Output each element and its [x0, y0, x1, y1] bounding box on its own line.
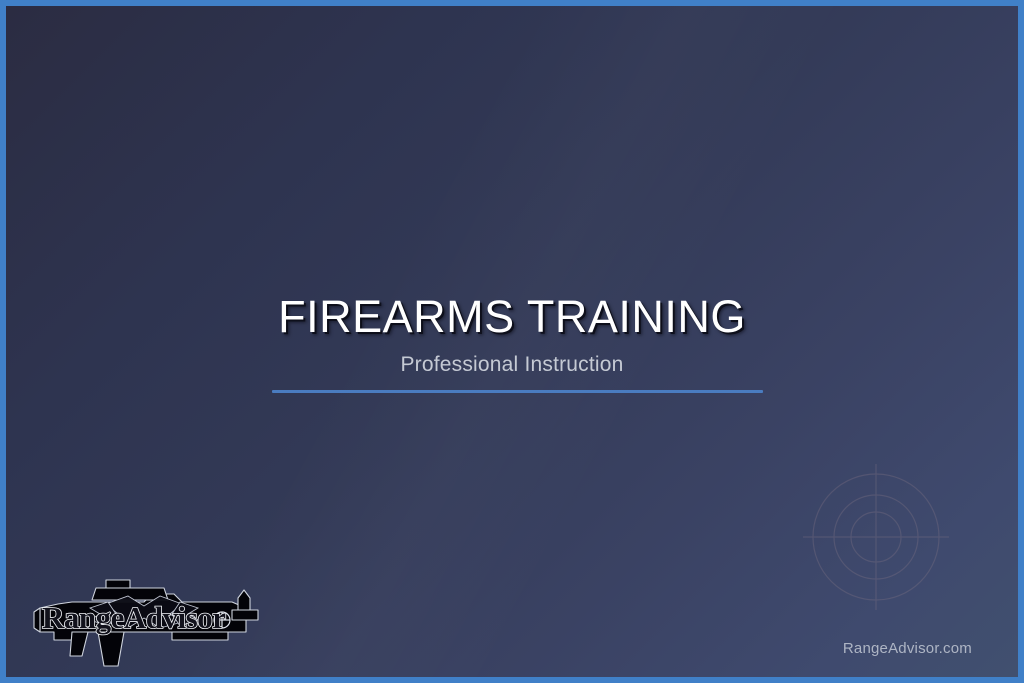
accent-divider	[272, 390, 763, 393]
title-block: FIREARMS TRAINING Professional Instructi…	[6, 291, 1018, 378]
rifle-silhouette-icon: RangeAdvisor	[32, 570, 264, 668]
presentation-slide: FIREARMS TRAINING Professional Instructi…	[0, 0, 1024, 683]
page-subtitle: Professional Instruction	[6, 352, 1018, 378]
site-url-footer: RangeAdvisor.com	[843, 640, 972, 657]
page-title: FIREARMS TRAINING	[6, 291, 1018, 343]
crosshair-target-icon	[801, 462, 951, 612]
logo-wordmark: RangeAdvisor	[42, 600, 226, 635]
